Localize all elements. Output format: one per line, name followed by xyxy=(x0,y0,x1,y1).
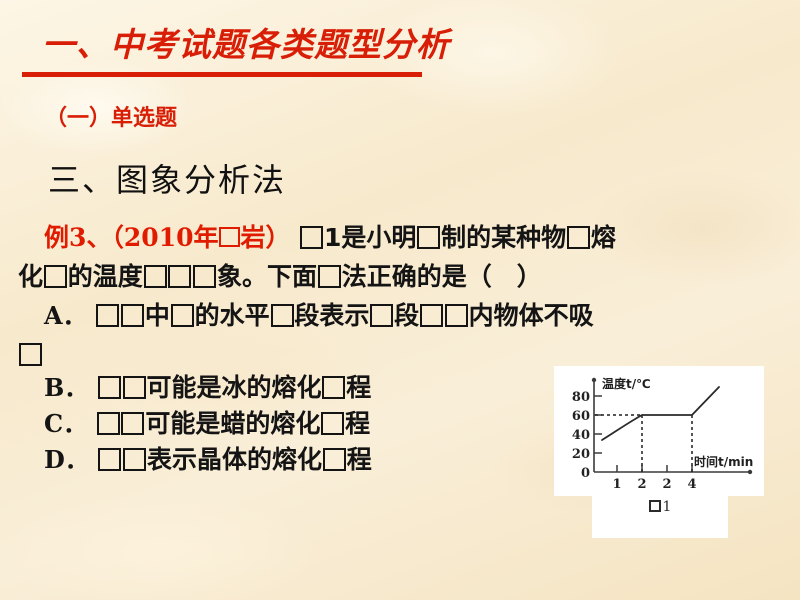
temperature-time-chart: 80 60 40 20 0 1 2 2 4 温度t/℃ 时间t/min xyxy=(554,366,764,496)
missing-glyph-icon xyxy=(121,412,144,435)
missing-glyph-icon xyxy=(417,226,440,249)
missing-glyph-icon xyxy=(271,304,294,327)
svg-text:0: 0 xyxy=(581,466,590,481)
svg-text:80: 80 xyxy=(572,390,590,405)
missing-glyph-icon xyxy=(19,343,42,366)
y-axis-arrow-dot xyxy=(592,378,596,382)
answer-options: B． 可能是冰的熔化程 C． 可能是蜡的熔化程 D． 表示晶体的熔化程 xyxy=(18,370,558,478)
missing-glyph-icon xyxy=(97,412,120,435)
figure-caption-number: 1 xyxy=(663,499,672,515)
option-c-text-2: 程 xyxy=(345,409,370,438)
missing-glyph-icon xyxy=(144,265,167,288)
option-a-text-1: 中 xyxy=(145,301,170,330)
svg-text:1: 1 xyxy=(612,477,621,492)
option-d[interactable]: D． 表示晶体的熔化程 xyxy=(18,442,558,478)
chart-container: 80 60 40 20 0 1 2 2 4 温度t/℃ 时间t/min xyxy=(554,366,764,496)
missing-glyph-icon xyxy=(321,412,344,435)
page-title: 一、中考试题各类题型分析 xyxy=(42,26,450,64)
missing-glyph-icon xyxy=(370,304,393,327)
missing-glyph-icon xyxy=(420,304,443,327)
question-line2-4: 法正确的是（ ） xyxy=(342,262,542,291)
missing-glyph-icon xyxy=(445,304,468,327)
question-source-tail: 岩） xyxy=(241,223,291,252)
missing-glyph-icon xyxy=(322,376,345,399)
slide-canvas: 一、中考试题各类题型分析 （一）单选题 三、图象分析法 例3、（2010年岩） … xyxy=(0,0,800,600)
y-tick-marks xyxy=(594,396,602,453)
figure-caption-container: 1 xyxy=(592,496,728,538)
question-line2-1: 化 xyxy=(18,262,43,291)
question-body-3: 熔 xyxy=(591,223,616,252)
missing-glyph-icon xyxy=(649,500,661,512)
missing-glyph-icon xyxy=(567,226,590,249)
missing-glyph-icon xyxy=(323,448,346,471)
svg-text:2: 2 xyxy=(662,477,671,492)
missing-glyph-icon xyxy=(193,265,216,288)
option-c[interactable]: C． 可能是蜡的熔化程 xyxy=(18,406,558,442)
svg-text:40: 40 xyxy=(572,428,590,443)
question-body-2: 制的某种物 xyxy=(441,223,566,252)
question-line2-3: 象。下面 xyxy=(217,262,317,291)
figure-caption: 1 xyxy=(649,498,672,515)
y-tick-labels: 80 60 40 20 0 xyxy=(572,390,590,481)
missing-glyph-icon xyxy=(121,304,144,327)
missing-glyph-icon xyxy=(318,265,341,288)
x-axis-arrow-dot xyxy=(748,470,752,474)
question-stem: 例3、（2010年岩） 1是小明制的某种物熔 化的温度象。下面法正确的是（ ） … xyxy=(18,218,788,374)
question-line-2: 化的温度象。下面法正确的是（ ） xyxy=(18,257,788,296)
option-b[interactable]: B． 可能是冰的熔化程 xyxy=(18,370,558,406)
missing-glyph-icon xyxy=(44,265,67,288)
x-tick-labels: 1 2 2 4 xyxy=(612,477,696,492)
missing-glyph-icon xyxy=(171,304,194,327)
option-b-text-1: 可能是冰的熔化 xyxy=(147,373,322,402)
option-d-text-1: 表示晶体的熔化 xyxy=(147,445,322,474)
missing-glyph-icon xyxy=(168,265,191,288)
question-source: （2010年 xyxy=(111,223,218,252)
svg-text:4: 4 xyxy=(687,477,696,492)
y-axis-label: 温度t/℃ xyxy=(602,376,651,391)
missing-glyph-icon xyxy=(98,376,121,399)
title-underline xyxy=(22,72,422,77)
question-line2-2: 的温度 xyxy=(68,262,143,291)
option-b-letter: B． xyxy=(44,373,88,402)
svg-text:2: 2 xyxy=(637,477,646,492)
option-c-text-1: 可能是蜡的熔化 xyxy=(145,409,320,438)
missing-glyph-icon xyxy=(96,304,119,327)
option-d-text-2: 程 xyxy=(347,445,372,474)
option-a-letter: A． xyxy=(44,301,87,330)
option-a-text-2: 的水平 xyxy=(195,301,270,330)
option-c-letter: C． xyxy=(44,409,87,438)
option-a-text-3: 段表示 xyxy=(294,301,369,330)
section-title: 三、图象分析法 xyxy=(48,155,286,201)
svg-text:60: 60 xyxy=(572,409,590,424)
x-axis-label: 时间t/min xyxy=(694,454,753,469)
melting-curve xyxy=(602,387,719,440)
option-d-letter: D． xyxy=(44,445,89,474)
x-tick-marks xyxy=(617,465,692,472)
missing-glyph-icon xyxy=(300,226,323,249)
example-label: 例3、 xyxy=(44,223,111,252)
missing-glyph-icon xyxy=(98,448,121,471)
missing-glyph-icon xyxy=(123,376,146,399)
question-line-1: 例3、（2010年岩） 1是小明制的某种物熔 xyxy=(18,218,788,257)
figure: 80 60 40 20 0 1 2 2 4 温度t/℃ 时间t/min xyxy=(554,366,764,538)
chart-guide-lines xyxy=(595,415,692,472)
option-b-text-2: 程 xyxy=(346,373,371,402)
option-a-text-4: 段 xyxy=(394,301,419,330)
missing-glyph-icon xyxy=(219,227,240,248)
subsection-title: （一）单选题 xyxy=(45,100,177,132)
missing-glyph-icon xyxy=(123,448,146,471)
option-a[interactable]: A． 中的水平段表示段内物体不吸 xyxy=(18,296,788,335)
question-body-1: 1是小明 xyxy=(324,223,416,252)
svg-text:20: 20 xyxy=(572,447,590,462)
option-a-text-5: 内物体不吸 xyxy=(469,301,594,330)
